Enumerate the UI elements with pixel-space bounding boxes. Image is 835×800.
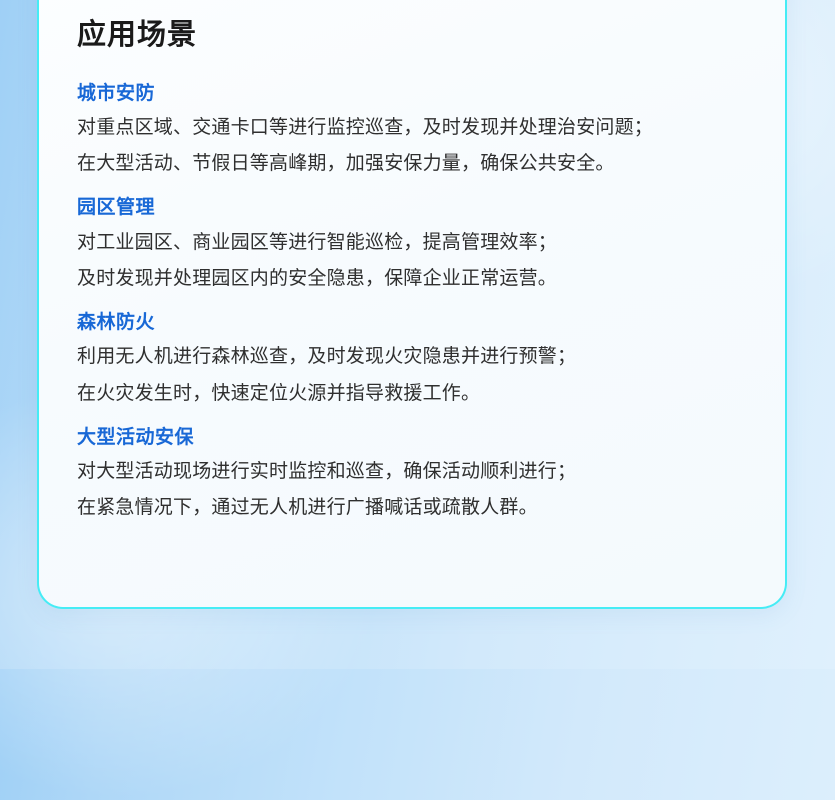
scenario-section-park-management: 园区管理 对工业园区、商业园区等进行智能巡检，提高管理效率； 及时发现并处理园区…	[77, 193, 743, 297]
page-title: 应用场景	[77, 18, 743, 53]
card-content: 应用场景 城市安防 对重点区域、交通卡口等进行监控巡查，及时发现并处理治安问题；…	[39, 0, 785, 526]
application-scenarios-card: 应用场景 城市安防 对重点区域、交通卡口等进行监控巡查，及时发现并处理治安问题；…	[37, 0, 787, 609]
scenario-section-city-security: 城市安防 对重点区域、交通卡口等进行监控巡查，及时发现并处理治安问题； 在大型活…	[77, 79, 743, 183]
scenario-section-major-event-security: 大型活动安保 对大型活动现场进行实时监控和巡查，确保活动顺利进行； 在紧急情况下…	[77, 423, 743, 527]
scenario-heading: 森林防火	[77, 308, 743, 337]
scenario-heading: 大型活动安保	[77, 423, 743, 452]
scenario-line: 在紧急情况下，通过无人机进行广播喊话或疏散人群。	[77, 490, 743, 526]
scenario-heading: 园区管理	[77, 193, 743, 222]
scenario-line: 在大型活动、节假日等高峰期，加强安保力量，确保公共安全。	[77, 146, 743, 182]
scenario-heading: 城市安防	[77, 79, 743, 108]
scenario-line: 利用无人机进行森林巡查，及时发现火灾隐患并进行预警；	[77, 339, 743, 375]
scenario-line: 对工业园区、商业园区等进行智能巡检，提高管理效率；	[77, 225, 743, 261]
scenario-line: 及时发现并处理园区内的安全隐患，保障企业正常运营。	[77, 261, 743, 297]
scenario-line: 对大型活动现场进行实时监控和巡查，确保活动顺利进行；	[77, 454, 743, 490]
scenario-line: 对重点区域、交通卡口等进行监控巡查，及时发现并处理治安问题；	[77, 110, 743, 146]
scenario-section-forest-fire-prevention: 森林防火 利用无人机进行森林巡查，及时发现火灾隐患并进行预警； 在火灾发生时，快…	[77, 308, 743, 412]
scenario-line: 在火灾发生时，快速定位火源并指导救援工作。	[77, 376, 743, 412]
